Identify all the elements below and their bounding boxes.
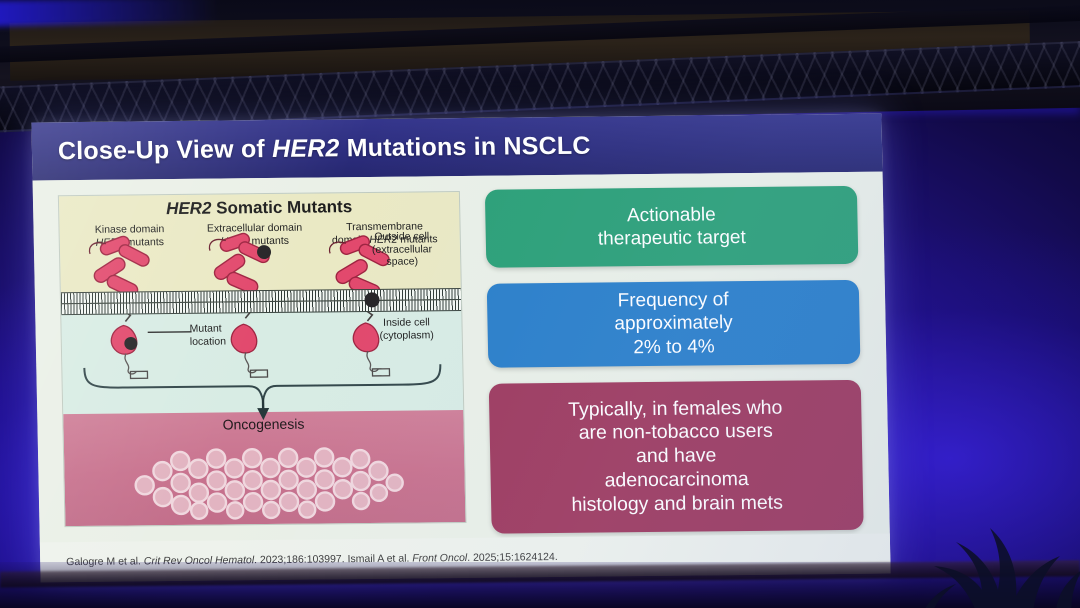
plant-silhouette <box>860 472 1080 608</box>
patient-profile-card[interactable]: Typically, in females who are non-tobacc… <box>489 380 864 534</box>
lipid-bilayer <box>61 288 461 314</box>
diagram-heading-rest: Somatic Mutants <box>211 197 352 217</box>
outside-line2: (extracellular <box>372 243 432 256</box>
conference-room-scene: Close-Up View of HER2 Mutations in NSCLC… <box>0 0 1080 608</box>
her2-mutants-diagram: HER2 Somatic Mutants Kinase domain HER2 … <box>59 192 466 526</box>
profile-line1: Typically, in females who <box>568 396 783 420</box>
profile-line4: adenocarcinoma <box>604 468 749 492</box>
mutant-location-leader-line <box>148 327 194 337</box>
title-prefix: Close-Up View of <box>58 134 273 164</box>
actionable-line1: Actionable <box>627 204 716 226</box>
ceiling-blue-light <box>0 0 219 27</box>
actionable-target-card[interactable]: Actionable therapeutic target <box>485 186 859 268</box>
diagram-heading: HER2 Somatic Mutants <box>59 196 459 220</box>
actionable-line2: therapeutic target <box>598 227 746 250</box>
label-inside-cell: Inside cell (cytoplasm) <box>353 316 460 342</box>
projection-screen: Close-Up View of HER2 Mutations in NSCLC… <box>31 114 890 583</box>
presentation-slide: Close-Up View of HER2 Mutations in NSCLC… <box>31 114 890 583</box>
label-mutant-location: Mutant location <box>189 322 276 348</box>
transmembrane-mutation-dot <box>361 289 385 313</box>
diagram-heading-gene: HER2 <box>166 199 212 218</box>
slide-title: Close-Up View of HER2 Mutations in NSCLC <box>58 131 591 166</box>
tumor-cell-cluster <box>122 443 414 524</box>
profile-line3: and have <box>636 444 717 467</box>
title-gene-name: HER2 <box>272 134 340 163</box>
label-outside-cell: Outside cell (extracellular space) <box>346 230 459 269</box>
frequency-card[interactable]: Frequency of approximately 2% to 4% <box>487 280 861 368</box>
profile-line2: are non-tobacco users <box>578 420 772 444</box>
frequency-line2: approximately <box>614 313 733 335</box>
mutant-line1: Mutant <box>189 323 221 335</box>
outside-line3: space) <box>386 256 418 268</box>
ceiling <box>0 0 1080 129</box>
frequency-line1: Frequency of <box>617 289 728 311</box>
frequency-line3: 2% to 4% <box>633 336 715 358</box>
inside-line1: Inside cell <box>383 316 430 328</box>
profile-line5: histology and brain mets <box>571 491 783 515</box>
outside-line1: Outside cell <box>374 230 429 243</box>
title-suffix: Mutations in NSCLC <box>339 131 591 162</box>
key-points-column: Actionable therapeutic target Frequency … <box>485 186 864 534</box>
slide-title-bar: Close-Up View of HER2 Mutations in NSCLC <box>31 114 882 181</box>
mutant-line2: location <box>190 335 226 347</box>
inside-line2: (cytoplasm) <box>379 329 434 342</box>
slide-body: HER2 Somatic Mutants Kinase domain HER2 … <box>33 172 891 583</box>
